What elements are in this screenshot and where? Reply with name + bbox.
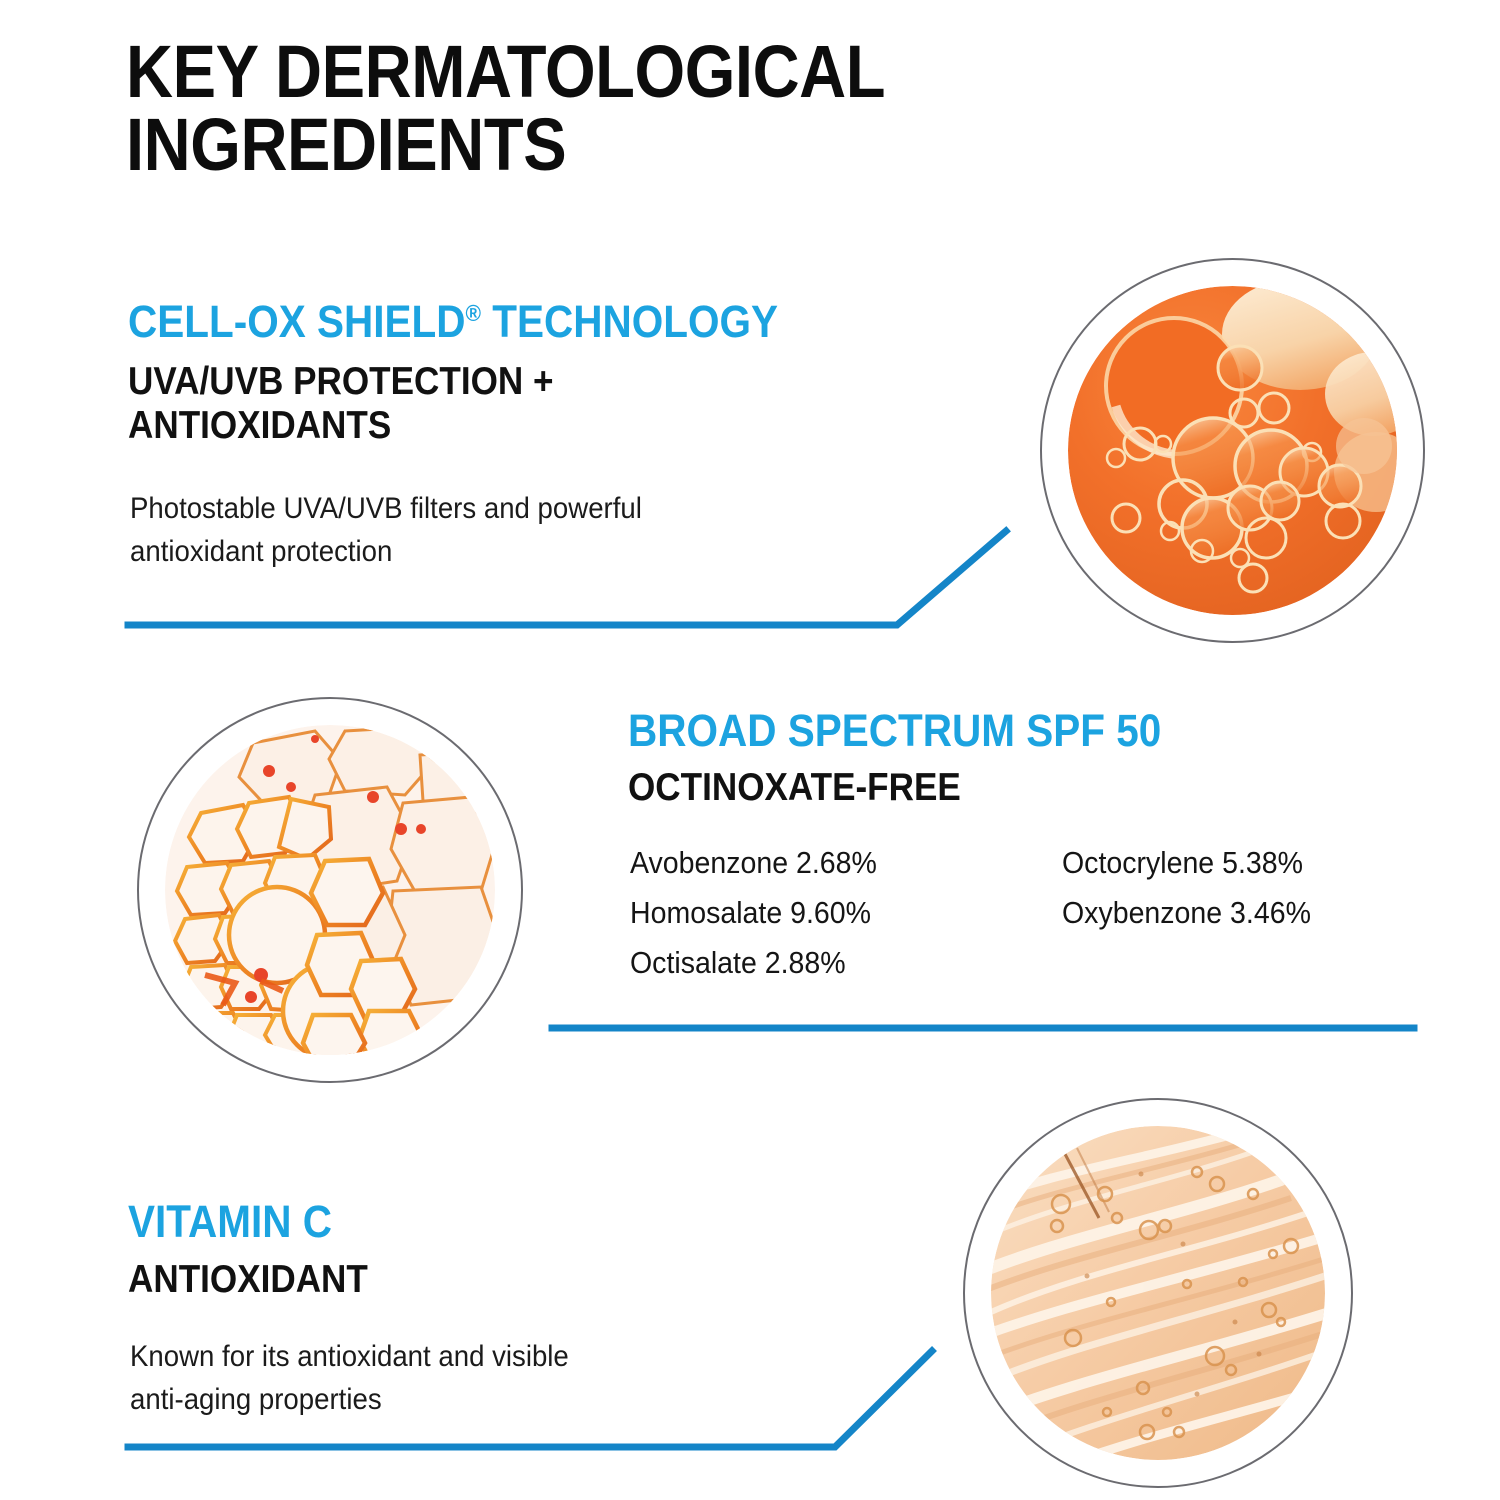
section-1-heading: CELL-OX SHIELD® TECHNOLOGY (128, 296, 778, 348)
ingredient-item: Homosalate 9.60% (630, 888, 877, 938)
section-1-body-line-1: Photostable UVA/UVB filters and powerful (130, 488, 958, 531)
section-2-image-cell-tissue (165, 725, 495, 1055)
section-1-subheading-line-1: UVA/UVB PROTECTION + (128, 360, 812, 404)
section-1-subheading: UVA/UVB PROTECTION + ANTIOXIDANTS (128, 360, 812, 449)
section-1-body: Photostable UVA/UVB filters and powerful… (130, 488, 958, 573)
page-title: KEY DERMATOLOGICAL INGREDIENTS (126, 36, 1112, 181)
section-1-image-oil-droplets (1068, 286, 1397, 615)
section-2-heading: BROAD SPECTRUM SPF 50 (628, 705, 1161, 757)
ingredient-column-right: Octocrylene 5.38% Oxybenzone 3.46% (1062, 838, 1311, 938)
section-3-body: Known for its antioxidant and visible an… (130, 1336, 903, 1421)
ingredient-item: Oxybenzone 3.46% (1062, 888, 1311, 938)
section-2-subheading: OCTINOXATE-FREE (628, 766, 961, 810)
section-3-body-line-2: anti-aging properties (130, 1379, 903, 1422)
ingredient-item: Octocrylene 5.38% (1062, 838, 1311, 888)
section-1-heading-text: CELL-OX SHIELD (128, 296, 466, 347)
section-1-body-line-2: antioxidant protection (130, 531, 958, 574)
section-3-image-gel-texture (991, 1126, 1325, 1460)
registered-trademark-icon: ® (466, 300, 482, 326)
ingredient-item: Octisalate 2.88% (630, 938, 877, 988)
infographic-root: KEY DERMATOLOGICAL INGREDIENTS CELL-OX S… (0, 0, 1500, 1500)
section-3-subheading: ANTIOXIDANT (128, 1258, 368, 1302)
section-1-subheading-line-2: ANTIOXIDANTS (128, 404, 812, 448)
section-1-heading-tail: TECHNOLOGY (481, 296, 778, 347)
ingredient-item: Avobenzone 2.68% (630, 838, 877, 888)
section-3-body-line-1: Known for its antioxidant and visible (130, 1336, 903, 1379)
ingredient-column-left: Avobenzone 2.68% Homosalate 9.60% Octisa… (630, 838, 877, 989)
section-3-heading: VITAMIN C (128, 1196, 332, 1248)
